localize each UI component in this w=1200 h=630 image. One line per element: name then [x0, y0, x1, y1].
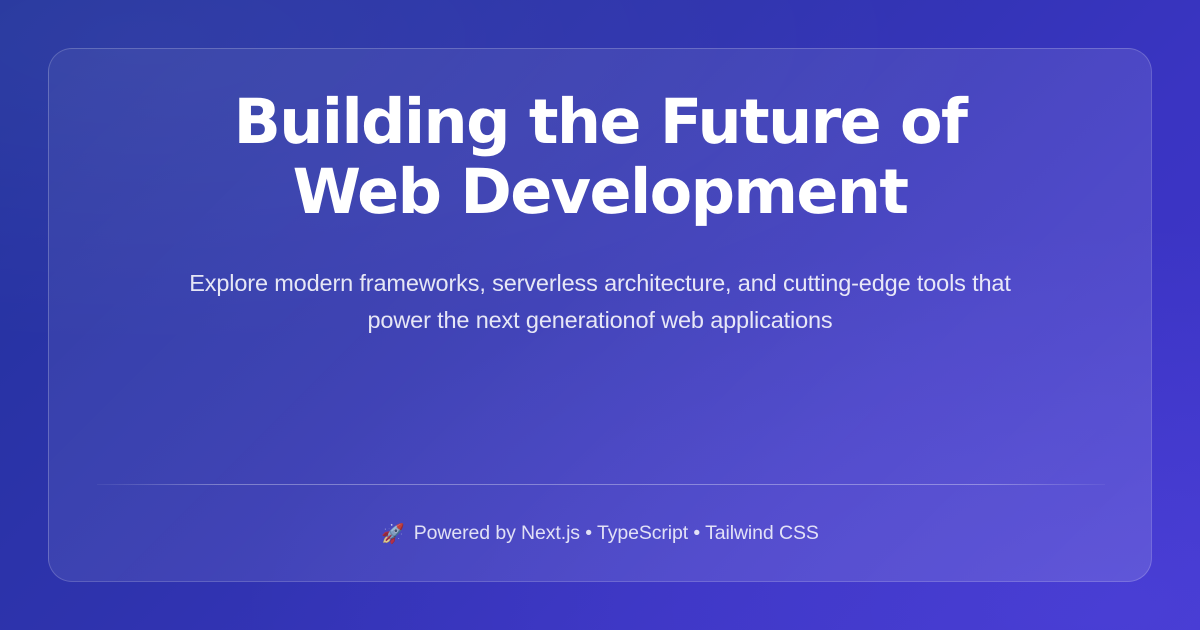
og-image-canvas: Building the Future of Web Development E…: [0, 0, 1200, 630]
footer-credits-label: Powered by Next.js • TypeScript • Tailwi…: [414, 522, 819, 545]
hero-card-content: Building the Future of Web Development E…: [97, 49, 1103, 339]
hero-card: Building the Future of Web Development E…: [48, 48, 1152, 582]
page-title: Building the Future of Web Development: [160, 87, 1040, 227]
rocket-icon: 🚀: [381, 525, 405, 544]
footer-credits: 🚀 Powered by Next.js • TypeScript • Tail…: [97, 485, 1103, 581]
page-subtitle: Explore modern frameworks, serverless ar…: [165, 265, 1035, 339]
